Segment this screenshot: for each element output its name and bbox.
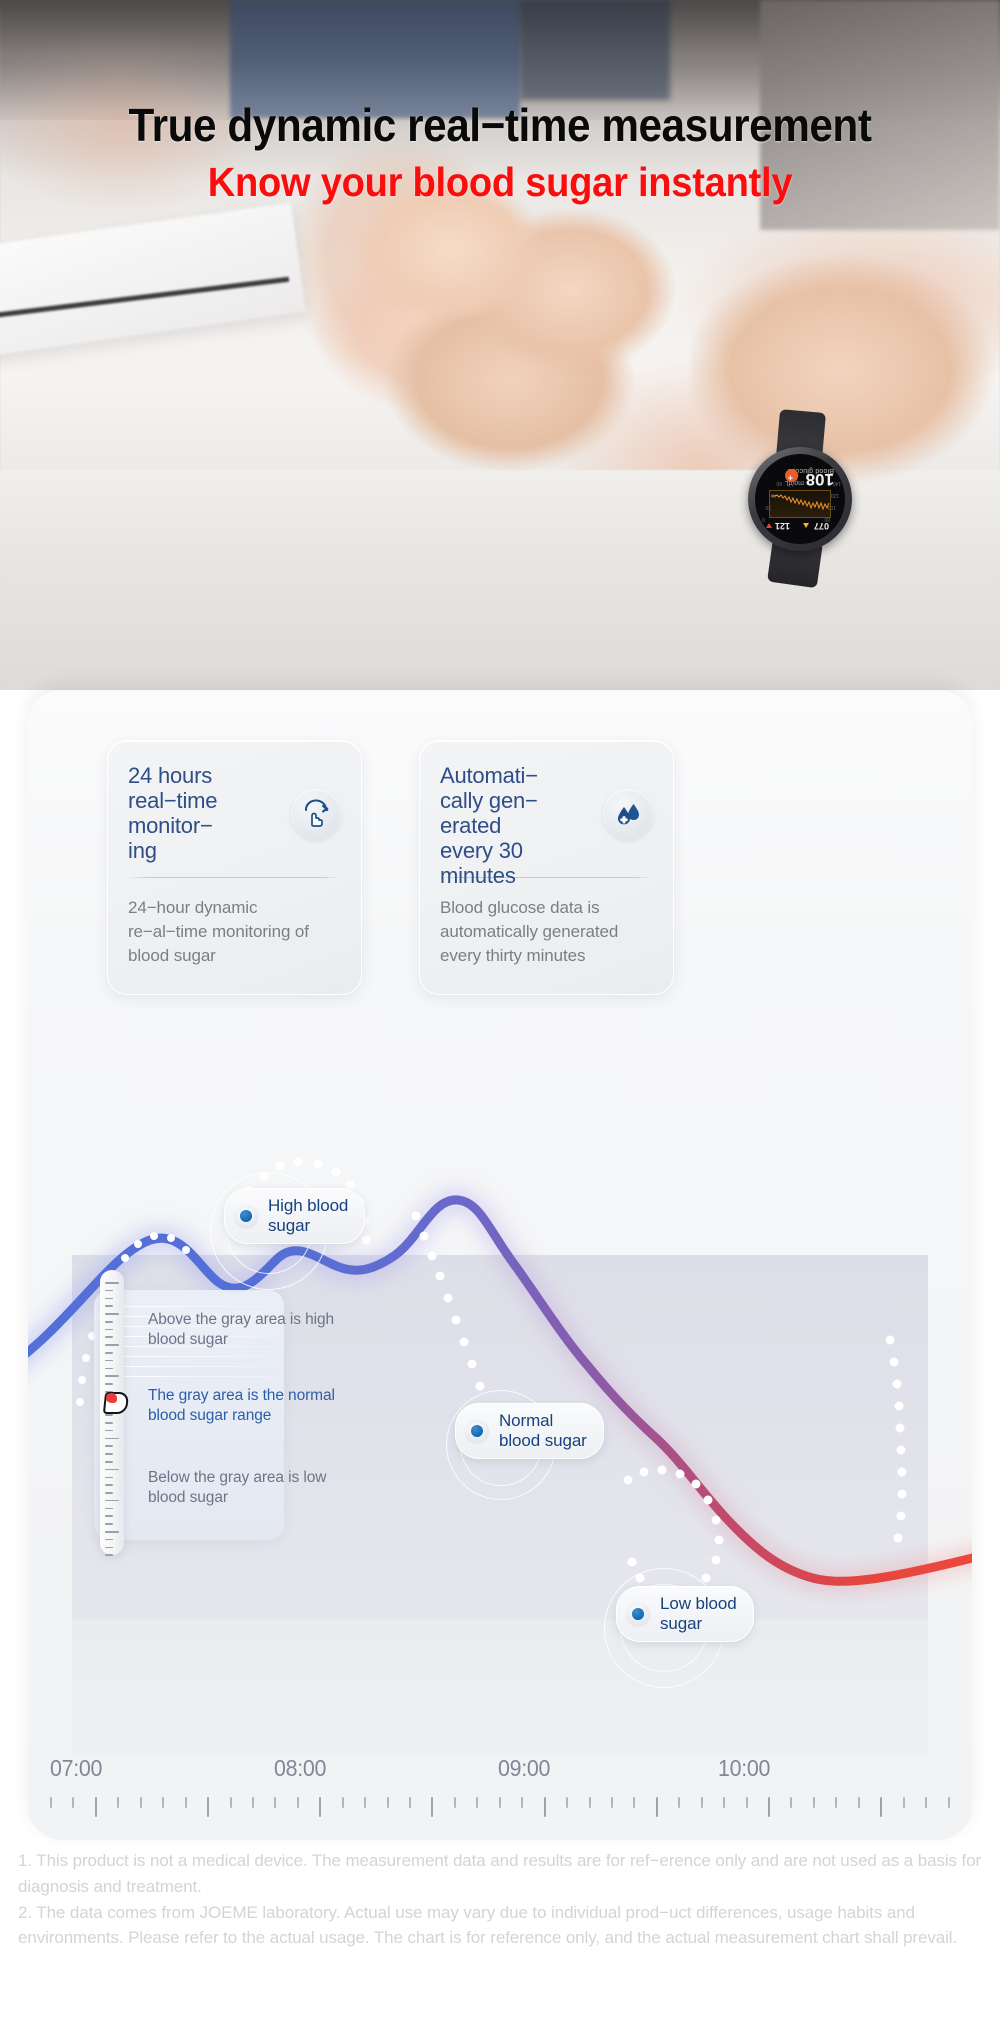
content-panel: 24 hours real−time monitor− ing 24−hour … bbox=[28, 690, 972, 1840]
watch-down-arrow-icon bbox=[766, 523, 772, 528]
watch-up-arrow-icon bbox=[803, 523, 809, 528]
feature-card-title: 24 hours real−time monitor− ing bbox=[128, 763, 217, 863]
annotation-label: Normal blood sugar bbox=[499, 1411, 587, 1451]
hand-gesture-icon bbox=[291, 789, 341, 839]
watch-low-value: 077 bbox=[814, 521, 829, 531]
disclaimer-notes: 1. This product is not a medical device.… bbox=[18, 1848, 982, 1951]
feature-card-header: Automati− cally gen− erated every 30 min… bbox=[420, 741, 673, 877]
axis-tick-marks bbox=[50, 1797, 950, 1823]
hero-clasped-hands bbox=[330, 170, 750, 510]
chart-time-axis: 07:00 08:00 09:00 10:00 bbox=[28, 1755, 972, 1840]
blood-drop-icon bbox=[603, 789, 653, 839]
axis-label-0: 07:00 bbox=[50, 1755, 102, 1782]
annotation-low-blood-sugar[interactable]: Low blood sugar bbox=[616, 1586, 754, 1642]
axis-label-3: 10:00 bbox=[718, 1755, 770, 1782]
ruler-current-value-marker[interactable] bbox=[104, 1392, 128, 1414]
annotation-label: Low blood sugar bbox=[660, 1594, 737, 1634]
hero-denim-clothing-secondary bbox=[520, 0, 670, 100]
annotation-label: High blood sugar bbox=[268, 1196, 348, 1236]
feature-card-auto-generate: Automati− cally gen− erated every 30 min… bbox=[419, 740, 674, 995]
feature-card-header: 24 hours real−time monitor− ing bbox=[108, 741, 361, 877]
glucose-chart: High blood sugar Normal blood sugar Low … bbox=[28, 1020, 972, 1840]
marker-dot-icon bbox=[233, 1203, 259, 1229]
annotation-normal-blood-sugar[interactable]: Normal blood sugar bbox=[455, 1403, 604, 1459]
disclaimer-note-2: 2. The data comes from JOEME laboratory.… bbox=[18, 1900, 982, 1952]
ruler-marker-dot-icon bbox=[106, 1393, 117, 1403]
legend-text-normal: The gray area is the normal blood sugar … bbox=[148, 1386, 335, 1426]
marker-dot-icon bbox=[625, 1601, 651, 1627]
marker-dot-icon bbox=[464, 1418, 490, 1444]
watch-high-value: 121 bbox=[775, 521, 790, 531]
axis-label-1: 08:00 bbox=[274, 1755, 326, 1782]
axis-label-2: 09:00 bbox=[498, 1755, 550, 1782]
feature-card-description: Blood glucose data is automatically gene… bbox=[420, 878, 673, 968]
axis-tick-labels: 07:00 08:00 09:00 10:00 bbox=[28, 1755, 972, 1791]
legend-text-low: Below the gray area is low blood sugar bbox=[148, 1468, 326, 1508]
feature-card-monitoring: 24 hours real−time monitor− ing 24−hour … bbox=[107, 740, 362, 995]
watch-screen: 0 20 40 60 80 100 120 140 077 121 108 mg… bbox=[755, 454, 845, 544]
feature-card-title: Automati− cally gen− erated every 30 min… bbox=[440, 763, 538, 888]
page-subtitle: Know your blood sugar instantly bbox=[35, 160, 965, 204]
smartwatch: 0 20 40 60 80 100 120 140 077 121 108 mg… bbox=[748, 447, 852, 551]
page-title: True dynamic real−time measurement bbox=[40, 101, 960, 150]
ruler-tick-marks bbox=[105, 1282, 119, 1562]
feature-card-description: 24−hour dynamic re−al−time monitoring of… bbox=[108, 878, 361, 968]
hero-section: 0 20 40 60 80 100 120 140 077 121 108 mg… bbox=[0, 0, 1000, 690]
watch-glucose-waveform bbox=[769, 490, 831, 518]
annotation-high-blood-sugar[interactable]: High blood sugar bbox=[224, 1188, 365, 1244]
disclaimer-note-1: 1. This product is not a medical device.… bbox=[18, 1848, 982, 1900]
legend-text-high: Above the gray area is high blood sugar bbox=[148, 1310, 334, 1350]
watch-waveform-svg bbox=[770, 491, 830, 517]
